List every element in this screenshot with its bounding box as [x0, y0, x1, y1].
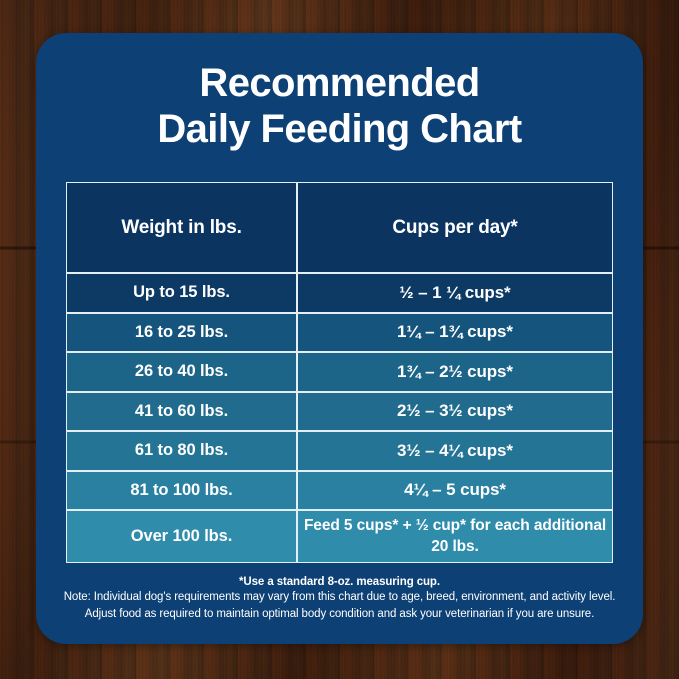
column-header-cups: Cups per day*: [297, 182, 613, 273]
table-row: 16 to 25 lbs. 1¼ – 1¾ cups*: [66, 313, 613, 353]
cell-cups: 1¾ – 2½ cups*: [297, 352, 613, 392]
table-row: 81 to 100 lbs. 4¼ – 5 cups*: [66, 471, 613, 511]
page-title-line-1: Recommended: [36, 60, 643, 106]
cell-cups: 3½ – 4¼ cups*: [297, 431, 613, 471]
table-row: Up to 15 lbs. ½ – 1 ¼ cups*: [66, 273, 613, 313]
feeding-table: Weight in lbs. Cups per day* Up to 15 lb…: [66, 182, 613, 563]
footnotes: *Use a standard 8-oz. measuring cup. Not…: [48, 576, 631, 622]
table-body: Up to 15 lbs. ½ – 1 ¼ cups* 16 to 25 lbs…: [66, 273, 613, 563]
cell-cups: 2½ – 3½ cups*: [297, 392, 613, 432]
cell-cups: 1¼ – 1¾ cups*: [297, 313, 613, 353]
cell-weight: Over 100 lbs.: [66, 510, 297, 563]
cell-weight: 26 to 40 lbs.: [66, 352, 297, 392]
footnote-note-line-2: Adjust food as required to maintain opti…: [48, 606, 631, 623]
footnote-note-line-1: Note: Individual dog's requirements may …: [48, 589, 631, 606]
cell-weight: Up to 15 lbs.: [66, 273, 297, 313]
table-row: Over 100 lbs. Feed 5 cups* + ½ cup* for …: [66, 510, 613, 563]
cell-cups: Feed 5 cups* + ½ cup* for each additiona…: [297, 510, 613, 563]
page-title: Recommended Daily Feeding Chart: [36, 33, 643, 153]
page-title-line-2: Daily Feeding Chart: [36, 106, 643, 152]
cell-cups: ½ – 1 ¼ cups*: [297, 273, 613, 313]
table-row: 61 to 80 lbs. 3½ – 4¼ cups*: [66, 431, 613, 471]
cell-weight: 61 to 80 lbs.: [66, 431, 297, 471]
column-header-weight: Weight in lbs.: [66, 182, 297, 273]
feeding-chart-card: Recommended Daily Feeding Chart Weight i…: [36, 33, 643, 644]
cell-weight: 41 to 60 lbs.: [66, 392, 297, 432]
footnote-measuring-cup: *Use a standard 8-oz. measuring cup.: [48, 576, 631, 588]
cell-weight: 16 to 25 lbs.: [66, 313, 297, 353]
cell-weight: 81 to 100 lbs.: [66, 471, 297, 511]
cell-cups: 4¼ – 5 cups*: [297, 471, 613, 511]
table-header-row: Weight in lbs. Cups per day*: [66, 182, 613, 273]
table-header: Weight in lbs. Cups per day*: [66, 182, 613, 273]
table-row: 41 to 60 lbs. 2½ – 3½ cups*: [66, 392, 613, 432]
table-row: 26 to 40 lbs. 1¾ – 2½ cups*: [66, 352, 613, 392]
